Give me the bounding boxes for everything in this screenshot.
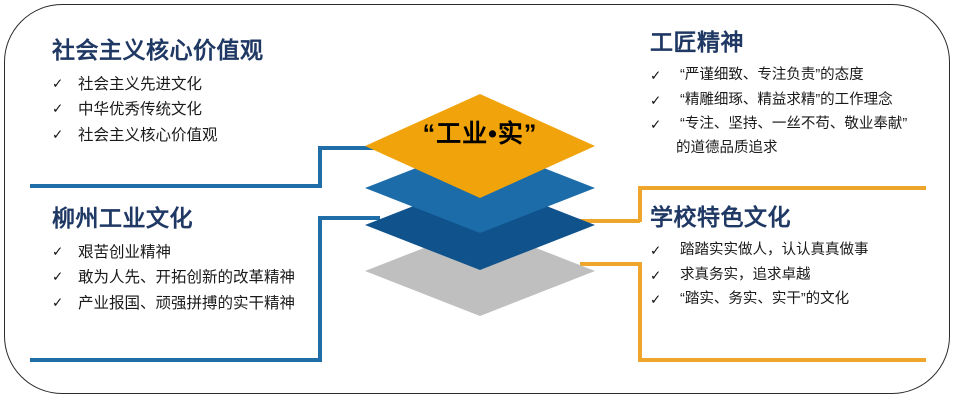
list-item-label: 社会主义先进文化 <box>78 72 202 97</box>
check-icon: ✓ <box>650 239 680 263</box>
diagram-canvas: “工业•实” 社会主义核心价值观 ✓ 社会主义先进文化 ✓ 中华优秀传统文化 ✓… <box>0 0 956 400</box>
list-item-label: 产业报国、顽强拼搏的实干精神 <box>78 291 295 316</box>
check-icon: ✓ <box>650 264 680 288</box>
list-item-label: 求真务实，追求卓越 <box>680 264 811 287</box>
core-values-list: ✓ 社会主义先进文化 ✓ 中华优秀传统文化 ✓ 社会主义核心价值观 <box>52 72 264 147</box>
list-item-label: 踏踏实实做人，认认真真做事 <box>680 239 869 262</box>
list-item-label: “踏实、务实、实干”的文化 <box>680 288 849 311</box>
connector-top-right-vertical <box>638 186 642 222</box>
list-item-label: 艰苦创业精神 <box>78 240 171 265</box>
list-item-label: 敢为人先、开拓创新的改革精神 <box>78 265 295 290</box>
list-item: ✓ 社会主义核心价值观 <box>52 123 264 148</box>
craftsman-spirit-title: 工匠精神 <box>650 30 907 55</box>
block-school-culture: 学校特色文化 ✓ 踏踏实实做人，认认真真做事 ✓ 求真务实，追求卓越 ✓ “踏实… <box>650 205 869 312</box>
check-icon: ✓ <box>52 123 78 147</box>
list-item: ✓ “精雕细琢、精益求精”的工作理念 <box>650 89 907 113</box>
list-item-label: “精雕细琢、精益求精”的工作理念 <box>680 89 893 112</box>
list-item: ✓ “踏实、务实、实干”的文化 <box>650 288 869 312</box>
list-item: ✓ 中华优秀传统文化 <box>52 97 264 122</box>
list-item-label: “专注、坚持、一丝不苟、敬业奉献” <box>680 113 907 136</box>
core-values-title: 社会主义核心价值观 <box>52 38 264 63</box>
check-icon: ✓ <box>52 240 78 264</box>
list-item: ✓ 产业报国、顽强拼搏的实干精神 <box>52 291 295 316</box>
layered-plate-stack: “工业•实” <box>340 88 620 323</box>
check-icon: ✓ <box>52 97 78 121</box>
check-icon: ✓ <box>52 291 78 315</box>
connector-bottom-right-baseline <box>638 358 926 362</box>
craftsman-spirit-list: ✓ “严谨细致、专注负责”的态度 ✓ “精雕细琢、精益求精”的工作理念 ✓ “专… <box>650 64 907 160</box>
list-item: ✓ 艰苦创业精神 <box>52 240 295 265</box>
check-icon: ✓ <box>650 288 680 312</box>
check-icon: ✓ <box>52 265 78 289</box>
craftsman-spirit-continuation: 的道德品质追求 <box>650 137 907 160</box>
connector-top-left-vertical <box>318 146 322 188</box>
school-culture-list: ✓ 踏踏实实做人，认认真真做事 ✓ 求真务实，追求卓越 ✓ “踏实、务实、实干”… <box>650 239 869 312</box>
list-item: ✓ “严谨细致、专注负责”的态度 <box>650 64 907 88</box>
connector-bottom-left-vertical <box>318 216 322 362</box>
check-icon: ✓ <box>52 72 78 96</box>
liuzhou-industry-list: ✓ 艰苦创业精神 ✓ 敢为人先、开拓创新的改革精神 ✓ 产业报国、顽强拼搏的实干… <box>52 240 295 315</box>
list-item: ✓ 求真务实，追求卓越 <box>650 264 869 288</box>
school-culture-title: 学校特色文化 <box>650 205 869 230</box>
list-item-label: 中华优秀传统文化 <box>78 97 202 122</box>
block-liuzhou-industry-culture: 柳州工业文化 ✓ 艰苦创业精神 ✓ 敢为人先、开拓创新的改革精神 ✓ 产业报国、… <box>52 206 295 316</box>
check-icon: ✓ <box>650 64 680 88</box>
list-item: ✓ “专注、坚持、一丝不苟、敬业奉献” <box>650 113 907 137</box>
check-icon: ✓ <box>650 113 680 137</box>
connector-bottom-right-vertical <box>638 262 642 362</box>
connector-top-right-horizontal <box>638 186 926 190</box>
connector-bottom-left-baseline <box>30 358 322 362</box>
block-core-values: 社会主义核心价值观 ✓ 社会主义先进文化 ✓ 中华优秀传统文化 ✓ 社会主义核心… <box>52 38 264 148</box>
block-craftsman-spirit: 工匠精神 ✓ “严谨细致、专注负责”的态度 ✓ “精雕细琢、精益求精”的工作理念… <box>650 30 907 161</box>
list-item-label: 社会主义核心价值观 <box>78 123 218 148</box>
connector-top-left-horizontal <box>30 184 322 188</box>
check-icon: ✓ <box>650 89 680 113</box>
list-item-label: “严谨细致、专注负责”的态度 <box>680 64 864 87</box>
liuzhou-industry-title: 柳州工业文化 <box>52 206 295 231</box>
list-item: ✓ 踏踏实实做人，认认真真做事 <box>650 239 869 263</box>
list-item: ✓ 社会主义先进文化 <box>52 72 264 97</box>
list-item: ✓ 敢为人先、开拓创新的改革精神 <box>52 265 295 290</box>
